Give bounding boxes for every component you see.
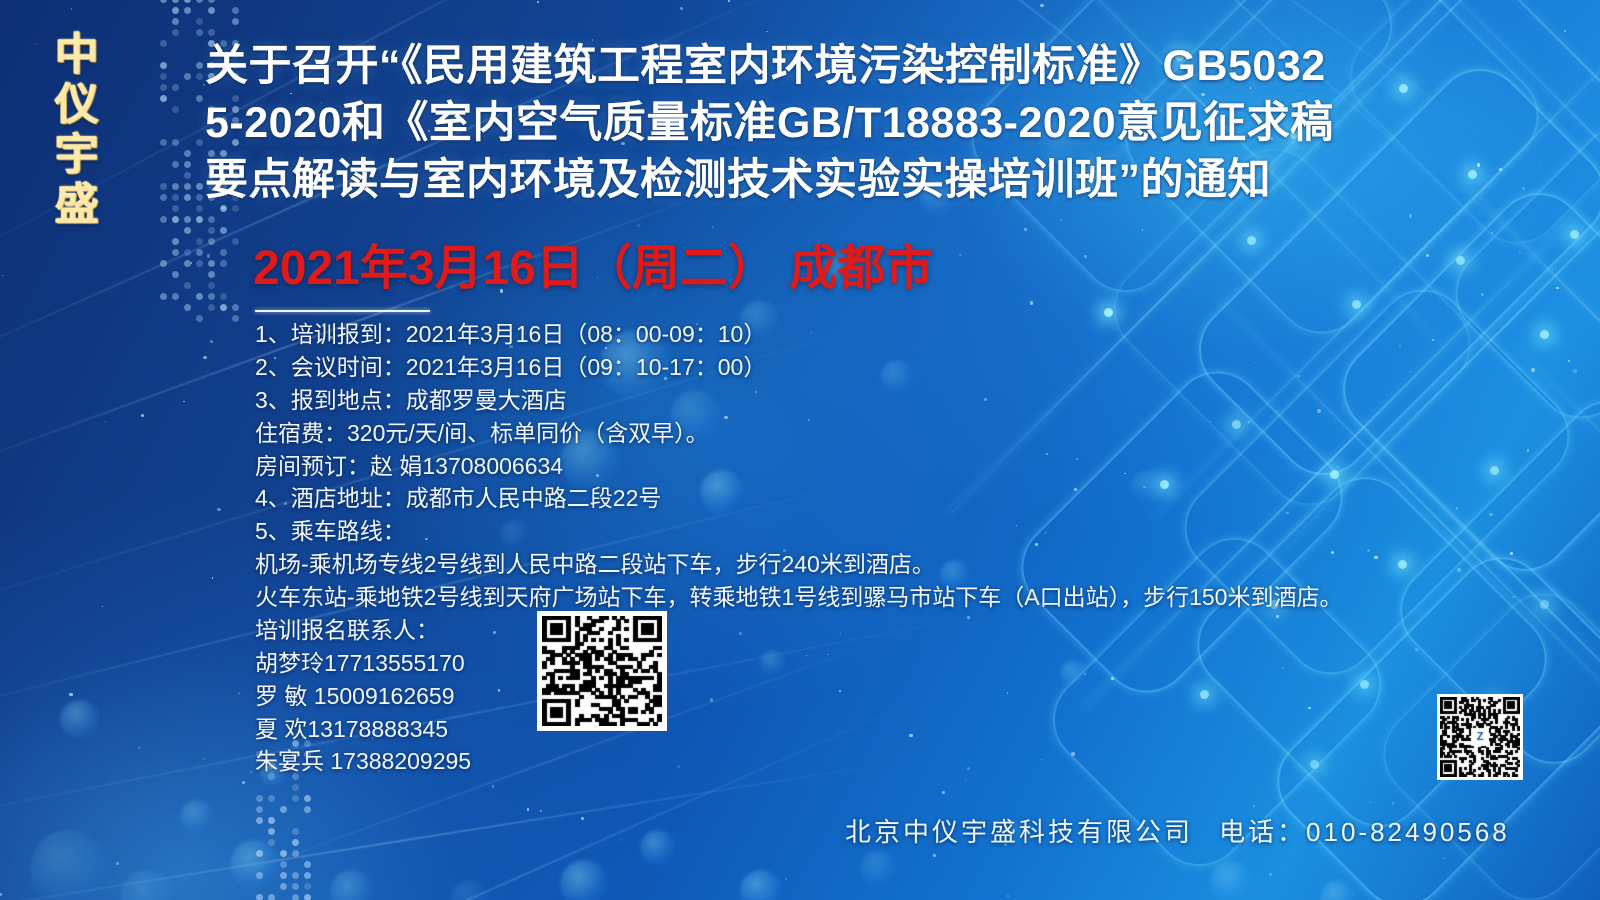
- detail-line: 住宿费：320元/天/间、标单同价（含双早）。: [255, 417, 1455, 450]
- footer-company-name: 北京中仪宇盛科技有限公司: [845, 817, 1193, 847]
- detail-line: 房间预订：赵 娟13708006634: [255, 450, 1455, 483]
- detail-line: 罗 敏 15009162659: [255, 680, 1455, 713]
- detail-line: 培训报名联系人：: [255, 614, 1455, 647]
- event-details-list: 1、培训报到：2021年3月16日（08：00-09：10）2、会议时间：202…: [255, 318, 1455, 778]
- event-date-location: 2021年3月16日（周二） 成都市: [253, 228, 933, 298]
- footer-phone-label: 电话：: [1219, 817, 1306, 847]
- company-logo-vertical: 中 仪 宇 盛: [46, 30, 108, 231]
- divider-rule: [255, 310, 430, 312]
- detail-line: 朱宴兵 17388209295: [255, 745, 1455, 778]
- detail-line: 4、酒店地址：成都市人民中路二段22号: [255, 482, 1455, 515]
- detail-line: 火车东站-乘地铁2号线到天府广场站下车，转乘地铁1号线到骡马市站下车（A口出站）…: [255, 581, 1455, 614]
- logo-char-3: 宇: [46, 130, 108, 180]
- poster-canvas: 中 仪 宇 盛 关于召开“《民用建筑工程室内环境污染控制标准》GB5032 5-…: [0, 0, 1600, 900]
- detail-line: 5、乘车路线：: [255, 515, 1455, 548]
- title-line-2: 5-2020和《室内空气质量标准GB/T18883-2020意见征求稿: [205, 95, 1455, 152]
- wechat-qr-code[interactable]: [1437, 694, 1523, 780]
- footer-phone-number: 010-82490568: [1306, 817, 1510, 847]
- page-title: 关于召开“《民用建筑工程室内环境污染控制标准》GB5032 5-2020和《室内…: [205, 38, 1455, 210]
- detail-line: 胡梦玲17713555170: [255, 647, 1455, 680]
- detail-line: 3、报到地点：成都罗曼大酒店: [255, 384, 1455, 417]
- detail-line: 1、培训报到：2021年3月16日（08：00-09：10）: [255, 318, 1455, 351]
- detail-line: 2、会议时间：2021年3月16日（09：10-17：00）: [255, 351, 1455, 384]
- detail-line: 机场-乘机场专线2号线到人民中路二段站下车，步行240米到酒店。: [255, 548, 1455, 581]
- title-line-3: 要点解读与室内环境及检测技术实验实操培训班”的通知: [205, 152, 1455, 209]
- title-line-1: 关于召开“《民用建筑工程室内环境污染控制标准》GB5032: [205, 38, 1455, 95]
- detail-line: 夏 欢13178888345: [255, 713, 1455, 746]
- logo-char-1: 中: [46, 30, 108, 80]
- logo-char-2: 仪: [46, 80, 108, 130]
- registration-qr-code[interactable]: [537, 611, 667, 731]
- footer-contact: 北京中仪宇盛科技有限公司电话：010-82490568: [845, 812, 1510, 849]
- logo-char-4: 盛: [46, 180, 108, 230]
